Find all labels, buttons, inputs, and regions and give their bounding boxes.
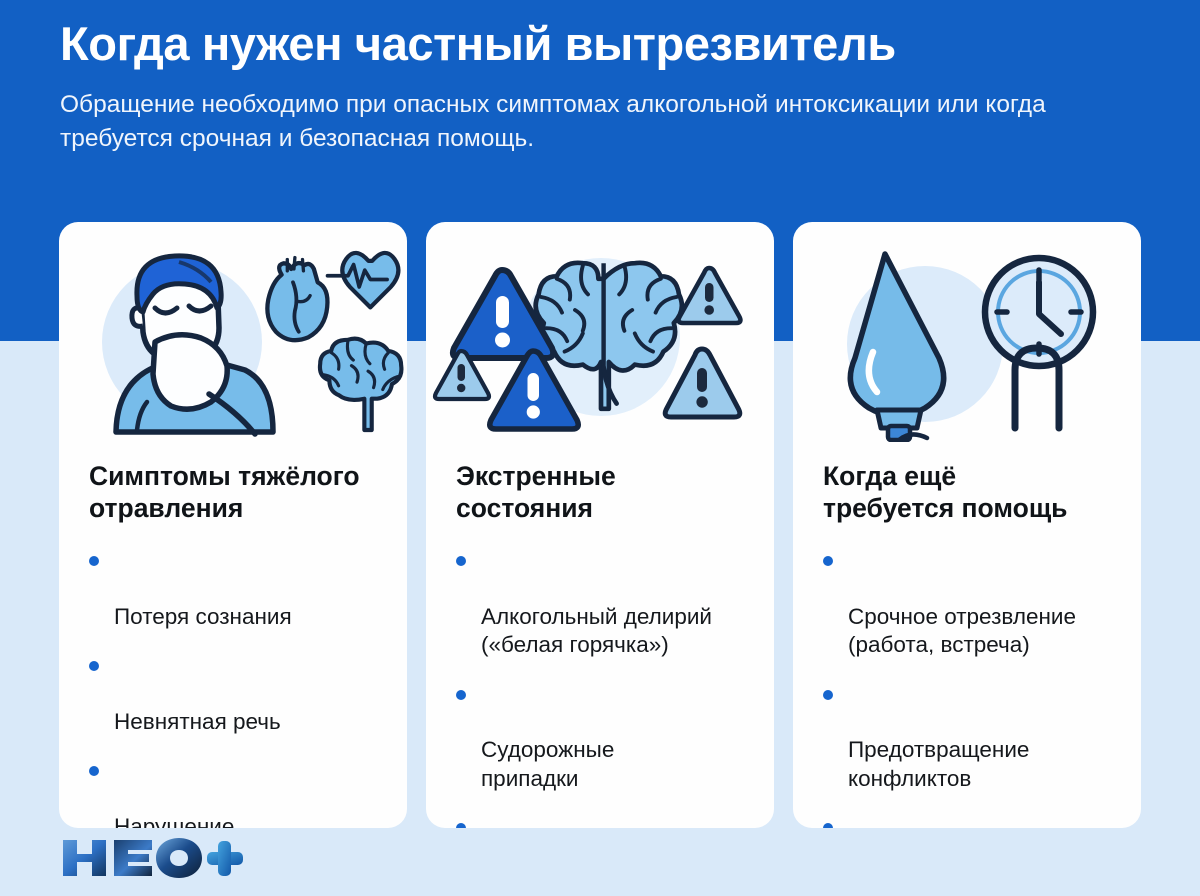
card-3-list: Срочное отрезвление (работа, встреча) Пр… [793, 546, 1141, 828]
list-item: Необходимость анонимной помощи [823, 813, 1115, 828]
card-2-artwork [426, 242, 774, 442]
list-item: Невнятная речь [89, 651, 381, 736]
header-content: Когда нужен частный вытрезвитель Обращен… [0, 0, 1200, 157]
cards-row: Симптомы тяжёлого отравления Потеря созн… [59, 222, 1141, 828]
list-item: Опасность для жизни и здоровья [456, 813, 748, 828]
page-subtitle: Обращение необходимо при опасных симптом… [60, 88, 1100, 158]
list-item: Предотвращение конфликтов [823, 680, 1115, 793]
bullet-dot-icon [89, 556, 99, 566]
card-when-else-help-needed: Когда ещё требуется помощь Срочное отрез… [793, 222, 1141, 828]
infographic-page: Когда нужен частный вытрезвитель Обращен… [0, 0, 1200, 896]
card-emergency-states: Экстренные состояния Алкогольный делирий… [426, 222, 774, 828]
card-severe-poisoning: Симптомы тяжёлого отравления Потеря созн… [59, 222, 407, 828]
list-item-label: Судорожные припадки [481, 737, 614, 790]
bullet-dot-icon [89, 766, 99, 776]
list-item-label: Алкогольный делирий («белая горячка») [481, 604, 712, 657]
bullet-dot-icon [823, 556, 833, 566]
brain-icon [320, 339, 401, 430]
card-title: Симптомы тяжёлого отравления [59, 460, 407, 524]
neo-plus-logo [59, 837, 244, 879]
bullet-dot-icon [456, 690, 466, 700]
bullet-dot-icon [456, 556, 466, 566]
bullet-dot-icon [89, 661, 99, 671]
page-title: Когда нужен частный вытрезвитель [60, 18, 1140, 71]
card-1-list: Потеря сознания Невнятная речь Нарушение… [59, 546, 407, 828]
pulse-heart-icon [328, 253, 399, 307]
list-item-label: Предотвращение конфликтов [848, 737, 1029, 790]
warning-triangle-icon [679, 268, 741, 323]
card-1-artwork [59, 242, 407, 442]
list-item: Потеря сознания [89, 546, 381, 631]
bullet-dot-icon [823, 823, 833, 828]
list-item-label: Потеря сознания [114, 604, 292, 629]
warning-triangles-brain-icon [426, 242, 774, 442]
bullet-dot-icon [823, 690, 833, 700]
list-item: Срочное отрезвление (работа, встреча) [823, 546, 1115, 659]
iv-drip-clock-icon [793, 242, 1141, 442]
list-item: Алкогольный делирий («белая горячка») [456, 546, 748, 659]
list-item: Судорожные припадки [456, 680, 748, 793]
card-2-list: Алкогольный делирий («белая горячка») Су… [426, 546, 774, 828]
list-item-label: Невнятная речь [114, 709, 281, 734]
sick-man-heart-brain-icon [59, 242, 407, 442]
neo-plus-logo-mark [59, 836, 244, 880]
bullet-dot-icon [456, 823, 466, 828]
list-item-label: Нарушение координации [114, 814, 250, 828]
card-title: Когда ещё требуется помощь [793, 460, 1141, 524]
card-3-artwork [793, 242, 1141, 442]
card-title: Экстренные состояния [426, 460, 774, 524]
list-item: Нарушение координации [89, 756, 381, 828]
list-item-label: Срочное отрезвление (работа, встреча) [848, 604, 1076, 657]
